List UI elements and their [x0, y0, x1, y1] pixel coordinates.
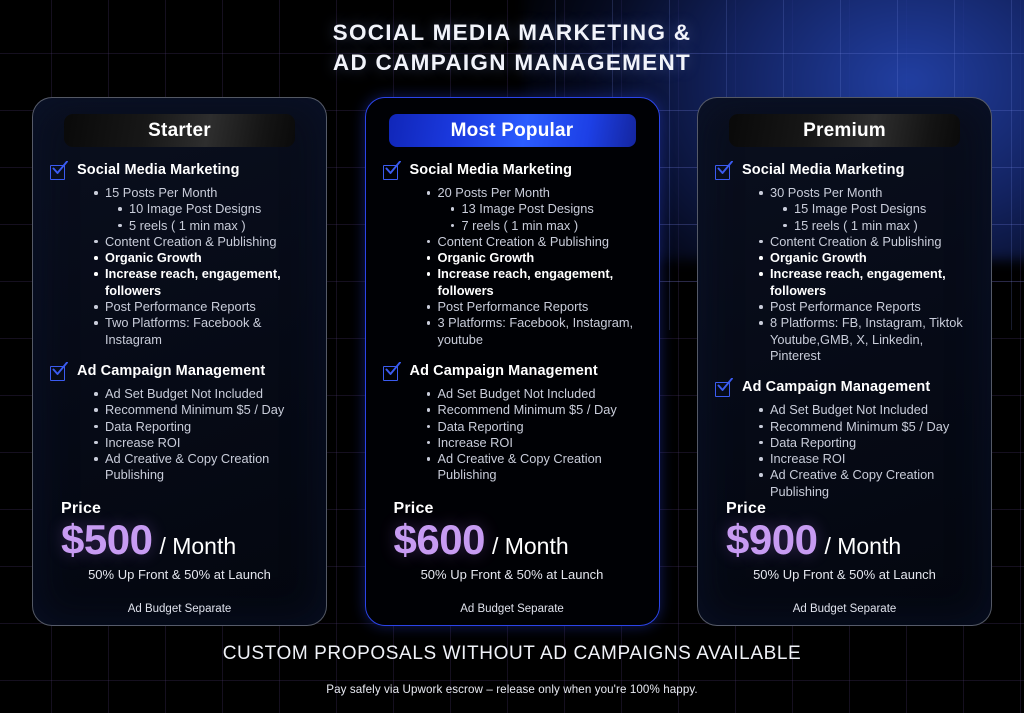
feature-item: Organic Growth: [91, 250, 312, 266]
pricing-card-starter[interactable]: StarterSocial Media Marketing15 Posts Pe…: [32, 97, 327, 626]
feature-item: Content Creation & Publishing: [91, 234, 312, 250]
ad-budget-note: Ad Budget Separate: [47, 603, 312, 615]
page-title-line-2: AD CAMPAIGN MANAGEMENT: [0, 48, 1024, 78]
page-title-line-1: SOCIAL MEDIA MARKETING &: [0, 18, 1024, 48]
page-title: SOCIAL MEDIA MARKETING & AD CAMPAIGN MAN…: [0, 18, 1024, 78]
price-amount: $500: [61, 516, 152, 564]
feature-item: Ad Set Budget Not Included: [424, 386, 645, 402]
section-ad-campaign-management: Ad Campaign Management: [712, 379, 977, 398]
plan-name-badge: Premium: [729, 114, 960, 147]
price-row: $500/ Month: [47, 516, 312, 564]
ad-budget-note: Ad Budget Separate: [712, 603, 977, 615]
price-block: Price$900/ Month50% Up Front & 50% at La…: [712, 500, 977, 615]
checkbox-checked-icon: [50, 163, 68, 181]
pricing-card-most-popular[interactable]: Most PopularSocial Media Marketing20 Pos…: [365, 97, 660, 626]
feature-item: Increase reach, engagement, followers: [91, 266, 312, 299]
price-period: / Month: [492, 533, 569, 560]
feature-item: Post Performance Reports: [424, 299, 645, 315]
price-amount: $900: [726, 516, 817, 564]
feature-item: Ad Creative & Copy Creation Publishing: [756, 467, 977, 500]
payment-terms: 50% Up Front & 50% at Launch: [47, 567, 312, 582]
feature-item: 10 Image Post Designs: [115, 201, 312, 217]
feature-item: Two Platforms: Facebook & Instagram: [91, 315, 312, 348]
feature-item: Increase reach, engagement, followers: [756, 266, 977, 299]
price-block: Price$500/ Month50% Up Front & 50% at La…: [47, 500, 312, 615]
pricing-page: SOCIAL MEDIA MARKETING & AD CAMPAIGN MAN…: [0, 0, 1024, 713]
feature-list: 30 Posts Per Month15 Image Post Designs1…: [712, 185, 977, 364]
section-title: Ad Campaign Management: [410, 363, 598, 380]
feature-item: 15 Image Post Designs: [780, 201, 977, 217]
footer-headline: CUSTOM PROPOSALS WITHOUT AD CAMPAIGNS AV…: [0, 643, 1024, 665]
price-block: Price$600/ Month50% Up Front & 50% at La…: [380, 500, 645, 615]
feature-list: 20 Posts Per Month13 Image Post Designs7…: [380, 185, 645, 348]
price-period: / Month: [824, 533, 901, 560]
section-title: Social Media Marketing: [410, 162, 573, 179]
feature-item: Organic Growth: [424, 250, 645, 266]
feature-item: Increase ROI: [91, 435, 312, 451]
feature-item: Post Performance Reports: [91, 299, 312, 315]
checkbox-checked-icon: [383, 364, 401, 382]
section-ad-campaign-management: Ad Campaign Management: [380, 363, 645, 382]
feature-item: Post Performance Reports: [756, 299, 977, 315]
feature-item: Increase reach, engagement, followers: [424, 266, 645, 299]
section-ad-campaign-management: Ad Campaign Management: [47, 363, 312, 382]
feature-item: 5 reels ( 1 min max ): [115, 218, 312, 234]
plan-name-badge: Most Popular: [389, 114, 636, 147]
plan-name: Most Popular: [451, 120, 574, 142]
footer-subline: Pay safely via Upwork escrow – release o…: [0, 683, 1024, 696]
plan-name-badge: Starter: [64, 114, 295, 147]
price-period: / Month: [159, 533, 236, 560]
checkbox-checked-icon: [383, 163, 401, 181]
pricing-cards-row: StarterSocial Media Marketing15 Posts Pe…: [32, 97, 992, 626]
feature-item: Recommend Minimum $5 / Day: [91, 402, 312, 418]
section-title: Social Media Marketing: [742, 162, 905, 179]
feature-item: Increase ROI: [756, 451, 977, 467]
feature-item: Ad Set Budget Not Included: [756, 402, 977, 418]
section-title: Social Media Marketing: [77, 162, 240, 179]
checkbox-checked-icon: [715, 380, 733, 398]
feature-item: Ad Creative & Copy Creation Publishing: [91, 451, 312, 484]
section-social-media-marketing: Social Media Marketing: [380, 162, 645, 181]
feature-item: 20 Posts Per Month: [424, 185, 645, 201]
checkbox-checked-icon: [715, 163, 733, 181]
plan-name: Starter: [148, 120, 211, 142]
payment-terms: 50% Up Front & 50% at Launch: [712, 567, 977, 582]
section-title: Ad Campaign Management: [742, 379, 930, 396]
section-title: Ad Campaign Management: [77, 363, 265, 380]
feature-item: Content Creation & Publishing: [424, 234, 645, 250]
payment-terms: 50% Up Front & 50% at Launch: [380, 567, 645, 582]
feature-item: 13 Image Post Designs: [448, 201, 645, 217]
price-amount: $600: [394, 516, 485, 564]
feature-item: Recommend Minimum $5 / Day: [756, 419, 977, 435]
feature-list: 15 Posts Per Month10 Image Post Designs5…: [47, 185, 312, 348]
price-row: $600/ Month: [380, 516, 645, 564]
feature-item: 15 reels ( 1 min max ): [780, 218, 977, 234]
feature-item: 3 Platforms: Facebook, Instagram, youtub…: [424, 315, 645, 348]
pricing-card-premium[interactable]: PremiumSocial Media Marketing30 Posts Pe…: [697, 97, 992, 626]
section-social-media-marketing: Social Media Marketing: [712, 162, 977, 181]
feature-item: Organic Growth: [756, 250, 977, 266]
feature-item: Recommend Minimum $5 / Day: [424, 402, 645, 418]
feature-item: Ad Creative & Copy Creation Publishing: [424, 451, 645, 484]
feature-item: Content Creation & Publishing: [756, 234, 977, 250]
section-social-media-marketing: Social Media Marketing: [47, 162, 312, 181]
feature-item: Increase ROI: [424, 435, 645, 451]
price-row: $900/ Month: [712, 516, 977, 564]
feature-item: 15 Posts Per Month: [91, 185, 312, 201]
feature-item: Ad Set Budget Not Included: [91, 386, 312, 402]
feature-item: 7 reels ( 1 min max ): [448, 218, 645, 234]
feature-item: 30 Posts Per Month: [756, 185, 977, 201]
feature-list: Ad Set Budget Not IncludedRecommend Mini…: [380, 386, 645, 484]
feature-item: Data Reporting: [756, 435, 977, 451]
plan-name: Premium: [803, 120, 886, 142]
feature-list: Ad Set Budget Not IncludedRecommend Mini…: [47, 386, 312, 484]
ad-budget-note: Ad Budget Separate: [380, 603, 645, 615]
feature-list: Ad Set Budget Not IncludedRecommend Mini…: [712, 402, 977, 500]
feature-item: Data Reporting: [424, 419, 645, 435]
checkbox-checked-icon: [50, 364, 68, 382]
feature-item: 8 Platforms: FB, Instagram, Tiktok Youtu…: [756, 315, 977, 364]
feature-item: Data Reporting: [91, 419, 312, 435]
